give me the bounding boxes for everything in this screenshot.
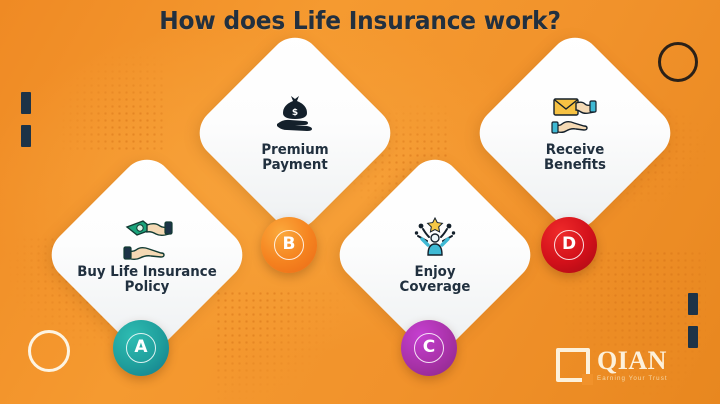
halftone-dots-pattern	[46, 40, 166, 150]
step-badge-letter-a: A	[126, 333, 156, 363]
step-badge-b[interactable]: B	[261, 217, 317, 273]
decorative-ring-bottom-left	[28, 330, 70, 372]
envelope-on-hand-icon	[549, 93, 601, 139]
logo-name: QIAN	[597, 348, 668, 374]
svg-text:$: $	[292, 108, 298, 118]
money-exchange-hands-icon	[121, 215, 173, 261]
celebration-person-icon	[409, 215, 461, 261]
step-badge-letter-c: C	[414, 333, 444, 363]
step-label-d: Receive Benefits	[498, 143, 653, 173]
step-badge-c[interactable]: C	[401, 320, 457, 376]
step-badge-letter-b: B	[274, 230, 304, 260]
logo-square-mark	[556, 348, 590, 382]
decorative-tick-right-lower	[688, 326, 698, 348]
brand-logo[interactable]: QIAN Earning Your Trust	[556, 348, 668, 382]
step-card-d[interactable]: Receive Benefits	[469, 27, 681, 239]
decorative-ring-top-right	[658, 42, 698, 82]
decorative-tick-left-lower	[21, 125, 31, 147]
step-label-a: Buy Life Insurance Policy	[70, 265, 225, 295]
logo-tagline: Earning Your Trust	[597, 376, 668, 382]
decorative-tick-right-upper	[688, 293, 698, 315]
infographic-canvas: How does Life Insurance work? Buy Life I…	[0, 0, 720, 404]
step-badge-a[interactable]: A	[113, 320, 169, 376]
halftone-dots-pattern	[215, 290, 345, 402]
page-title: How does Life Insurance work?	[25, 6, 695, 35]
money-bag-on-hand-icon: $	[269, 93, 321, 139]
step-badge-letter-d: D	[554, 230, 584, 260]
decorative-tick-left-upper	[21, 92, 31, 114]
step-label-b: Premium Payment	[218, 143, 373, 173]
step-label-c: Enjoy Coverage	[358, 265, 513, 295]
step-badge-d[interactable]: D	[541, 217, 597, 273]
